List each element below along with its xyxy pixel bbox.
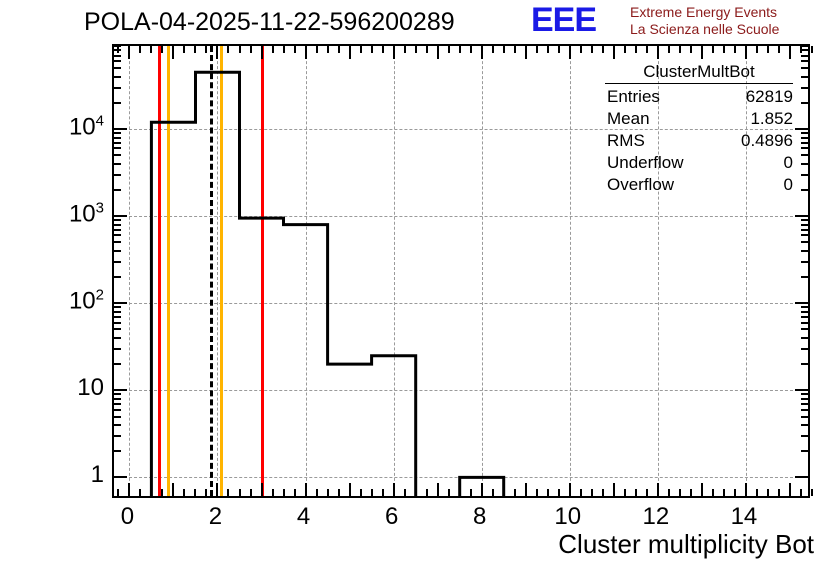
axis-tick (602, 46, 604, 53)
y-tick-label: 104 (69, 113, 104, 142)
axis-tick (613, 483, 615, 496)
axis-tick (128, 46, 130, 59)
axis-tick (114, 60, 121, 62)
axis-tick (114, 311, 121, 313)
axis-tick (602, 489, 604, 496)
axis-tick (459, 489, 461, 496)
page-title: POLA-04-2025-11-22-596200289 (84, 8, 455, 37)
axis-tick (114, 409, 121, 411)
axis-tick (569, 483, 571, 496)
axis-tick (114, 128, 127, 130)
axis-tick (767, 489, 769, 496)
axis-tick (723, 46, 725, 53)
axis-tick (547, 46, 549, 53)
axis-tick (114, 219, 121, 221)
axis-tick (690, 46, 692, 53)
axis-tick (114, 154, 121, 156)
axis-tick (580, 489, 582, 496)
axis-tick (114, 234, 121, 236)
axis-tick (591, 46, 593, 53)
axis-tick (801, 322, 808, 324)
axis-tick (114, 416, 121, 418)
axis-tick (481, 46, 483, 59)
axis-tick (459, 46, 461, 53)
axis-tick (580, 46, 582, 53)
axis-tick (801, 306, 808, 308)
axis-tick (349, 483, 351, 496)
axis-tick (205, 489, 207, 496)
axis-tick (338, 46, 340, 53)
axis-tick (679, 489, 681, 496)
axis-tick (114, 276, 121, 278)
axis-tick (558, 46, 560, 53)
x-tick-label: 12 (643, 503, 670, 531)
y-tick-label: 10 (77, 374, 104, 402)
axis-tick (745, 483, 747, 496)
axis-tick (114, 450, 121, 452)
axis-tick (801, 311, 808, 313)
axis-tick (349, 46, 351, 59)
axis-tick (114, 435, 121, 437)
stats-row-key: Underflow (607, 153, 684, 173)
axis-tick (114, 398, 121, 400)
axis-tick (283, 46, 285, 53)
axis-tick (393, 46, 395, 59)
axis-tick (114, 189, 121, 191)
axis-tick (114, 322, 121, 324)
axis-tick (547, 489, 549, 496)
axis-tick (114, 476, 127, 478)
axis-tick (801, 337, 808, 339)
axis-tick (114, 261, 121, 263)
axis-tick (448, 489, 450, 496)
stats-row-value: 62819 (746, 87, 793, 107)
axis-tick (795, 476, 808, 478)
axis-tick (734, 46, 736, 53)
x-tick-label: 4 (297, 503, 310, 531)
axis-tick (114, 328, 121, 330)
axis-tick (795, 302, 808, 304)
axis-tick (492, 489, 494, 496)
axis-tick (801, 276, 808, 278)
axis-tick (635, 46, 637, 53)
y-tick-label: 102 (69, 287, 104, 316)
axis-tick (646, 489, 648, 496)
axis-tick (525, 483, 527, 496)
axis-tick (481, 483, 483, 496)
axis-tick (801, 435, 808, 437)
axis-tick (437, 46, 439, 59)
axis-tick (668, 46, 670, 53)
stats-box: ClusterMultBot Entries62819Mean1.852RMS0… (601, 62, 797, 196)
axis-tick (114, 45, 121, 47)
axis-tick (216, 483, 218, 496)
axis-tick (261, 46, 263, 59)
axis-tick (801, 363, 808, 365)
axis-tick (801, 261, 808, 263)
stats-row: Underflow0 (601, 152, 797, 174)
axis-tick (327, 46, 329, 53)
axis-tick (536, 489, 538, 496)
axis-tick (448, 46, 450, 53)
axis-tick (811, 46, 813, 53)
axis-tick (227, 489, 229, 496)
axis-tick (503, 46, 505, 53)
axis-tick (558, 489, 560, 496)
axis-tick (114, 142, 121, 144)
axis-tick (801, 45, 808, 47)
stats-row-value: 0.4896 (741, 131, 793, 151)
axis-tick (114, 55, 121, 57)
axis-tick (514, 489, 516, 496)
axis-tick (635, 489, 637, 496)
axis-tick (294, 489, 296, 496)
axis-tick (338, 489, 340, 496)
axis-tick (712, 46, 714, 53)
axis-tick (767, 46, 769, 53)
axis-tick (283, 489, 285, 496)
stats-row-key: Overflow (607, 175, 674, 195)
stats-row-key: Mean (607, 109, 650, 129)
axis-tick (734, 489, 736, 496)
axis-tick (801, 87, 808, 89)
stats-row: Mean1.852 (601, 108, 797, 130)
axis-tick (712, 489, 714, 496)
axis-tick (801, 102, 808, 104)
axis-tick (801, 137, 808, 139)
axis-tick (624, 46, 626, 53)
axis-tick (114, 102, 121, 104)
axis-tick (668, 489, 670, 496)
x-tick-label: 14 (731, 503, 758, 531)
axis-tick (114, 49, 121, 51)
axis-tick (114, 137, 121, 139)
axis-tick (801, 316, 808, 318)
axis-tick (525, 46, 527, 59)
axis-tick (756, 46, 758, 53)
axis-tick (801, 142, 808, 144)
axis-tick (801, 234, 808, 236)
axis-tick (114, 393, 121, 395)
axis-tick (114, 241, 121, 243)
eee-logo-line1: Extreme Energy Events (630, 4, 777, 20)
x-tick-label: 0 (121, 503, 134, 531)
axis-tick (371, 489, 373, 496)
y-tick-label: 103 (69, 200, 104, 229)
axis-tick (801, 163, 808, 165)
axis-tick (801, 219, 808, 221)
axis-tick (114, 250, 121, 252)
axis-tick (114, 147, 121, 149)
axis-tick (801, 147, 808, 149)
y-tick-label: 1 (91, 461, 104, 489)
axis-tick (404, 46, 406, 53)
axis-tick (114, 302, 127, 304)
eee-logo-letters: EEE (531, 3, 596, 37)
axis-tick (801, 450, 808, 452)
axis-tick (514, 46, 516, 53)
axis-tick (316, 489, 318, 496)
axis-tick (701, 46, 703, 59)
axis-tick (657, 46, 659, 59)
axis-tick (114, 87, 121, 89)
axis-tick (183, 46, 185, 53)
axis-tick (327, 489, 329, 496)
axis-tick (172, 483, 174, 496)
axis-tick (114, 215, 127, 217)
axis-tick (114, 403, 121, 405)
axis-tick (801, 174, 808, 176)
axis-tick (679, 46, 681, 53)
axis-tick (117, 489, 119, 496)
axis-tick (569, 46, 571, 59)
axis-tick (114, 337, 121, 339)
stats-row-value: 0 (784, 153, 793, 173)
axis-tick (183, 489, 185, 496)
eee-logo-line2: La Scienza nelle Scuole (630, 21, 779, 37)
x-tick-label: 8 (473, 503, 486, 531)
axis-tick (470, 489, 472, 496)
axis-tick (492, 46, 494, 53)
axis-tick (150, 46, 152, 53)
axis-tick (114, 76, 121, 78)
axis-tick (239, 489, 241, 496)
axis-tick (801, 49, 808, 51)
axis-tick (114, 348, 121, 350)
axis-tick (161, 489, 163, 496)
axis-tick (801, 154, 808, 156)
x-tick-label: 10 (554, 503, 581, 531)
axis-tick (250, 46, 252, 53)
axis-tick (216, 46, 218, 59)
axis-tick (591, 489, 593, 496)
axis-tick (437, 483, 439, 496)
axis-tick (801, 398, 808, 400)
stats-row-key: RMS (607, 131, 645, 151)
stats-box-title: ClusterMultBot (605, 62, 793, 84)
axis-tick (503, 489, 505, 496)
axis-tick (778, 46, 780, 53)
axis-tick (811, 489, 813, 496)
axis-tick (801, 60, 808, 62)
axis-tick (114, 174, 121, 176)
axis-tick (801, 224, 808, 226)
axis-tick (801, 76, 808, 78)
axis-tick (194, 489, 196, 496)
axis-tick (426, 489, 428, 496)
eee-logo: EEE EEE Extreme Energy Events La Scienza… (531, 2, 831, 40)
axis-tick (382, 489, 384, 496)
axis-tick (701, 483, 703, 496)
axis-tick (613, 46, 615, 59)
axis-tick (272, 46, 274, 53)
axis-tick (745, 46, 747, 59)
axis-tick (801, 328, 808, 330)
axis-tick (114, 163, 121, 165)
stats-row-value: 0 (784, 175, 793, 195)
axis-tick (139, 46, 141, 53)
stats-rows: Entries62819Mean1.852RMS0.4896Underflow0… (601, 86, 797, 196)
axis-tick (316, 46, 318, 53)
axis-tick (172, 46, 174, 59)
axis-tick (360, 489, 362, 496)
axis-tick (470, 46, 472, 53)
axis-tick (795, 389, 808, 391)
axis-tick (801, 393, 808, 395)
axis-tick (114, 316, 121, 318)
axis-tick (114, 389, 127, 391)
axis-tick (150, 489, 152, 496)
stats-row-key: Entries (607, 87, 660, 107)
axis-tick (404, 489, 406, 496)
axis-tick (801, 250, 808, 252)
axis-tick (657, 483, 659, 496)
axis-tick (161, 46, 163, 53)
axis-tick (801, 403, 808, 405)
axis-tick (114, 306, 121, 308)
axis-tick (415, 489, 417, 496)
axis-tick (205, 46, 207, 53)
axis-tick (795, 215, 808, 217)
axis-tick (690, 489, 692, 496)
axis-tick (800, 489, 802, 496)
axis-tick (801, 132, 808, 134)
axis-tick (801, 348, 808, 350)
axis-tick (801, 416, 808, 418)
stats-row: Overflow0 (601, 174, 797, 196)
axis-tick (426, 46, 428, 53)
axis-tick (801, 241, 808, 243)
axis-tick (801, 409, 808, 411)
axis-tick (360, 46, 362, 53)
axis-tick (250, 489, 252, 496)
axis-tick (239, 46, 241, 53)
axis-tick (114, 67, 121, 69)
axis-tick (624, 489, 626, 496)
axis-tick (801, 67, 808, 69)
axis-tick (114, 363, 121, 365)
axis-tick (294, 46, 296, 53)
axis-tick (801, 229, 808, 231)
axis-tick (114, 424, 121, 426)
axis-tick (778, 489, 780, 496)
axis-tick (723, 489, 725, 496)
axis-tick (646, 46, 648, 53)
axis-tick (114, 229, 121, 231)
stats-row-value: 1.852 (750, 109, 793, 129)
axis-tick (227, 46, 229, 53)
axis-tick (305, 483, 307, 496)
axis-tick (801, 189, 808, 191)
axis-tick (114, 224, 121, 226)
axis-tick (789, 46, 791, 59)
axis-tick (261, 483, 263, 496)
axis-tick (801, 424, 808, 426)
axis-tick (272, 489, 274, 496)
axis-tick (371, 46, 373, 53)
axis-tick (393, 483, 395, 496)
histogram-canvas: POLA-04-2025-11-22-596200289 EEE EEE Ext… (0, 0, 836, 572)
x-axis-title: Cluster multiplicity Bot (558, 529, 814, 560)
axis-tick (305, 46, 307, 59)
x-tick-label: 6 (385, 503, 398, 531)
stats-row: RMS0.4896 (601, 130, 797, 152)
axis-tick (128, 483, 130, 496)
axis-tick (789, 483, 791, 496)
axis-tick (114, 132, 121, 134)
stats-row: Entries62819 (601, 86, 797, 108)
x-tick-label: 2 (209, 503, 222, 531)
axis-tick (801, 55, 808, 57)
axis-tick (415, 46, 417, 53)
axis-tick (194, 46, 196, 53)
axis-tick (536, 46, 538, 53)
axis-tick (139, 489, 141, 496)
axis-tick (382, 46, 384, 53)
axis-tick (756, 489, 758, 496)
